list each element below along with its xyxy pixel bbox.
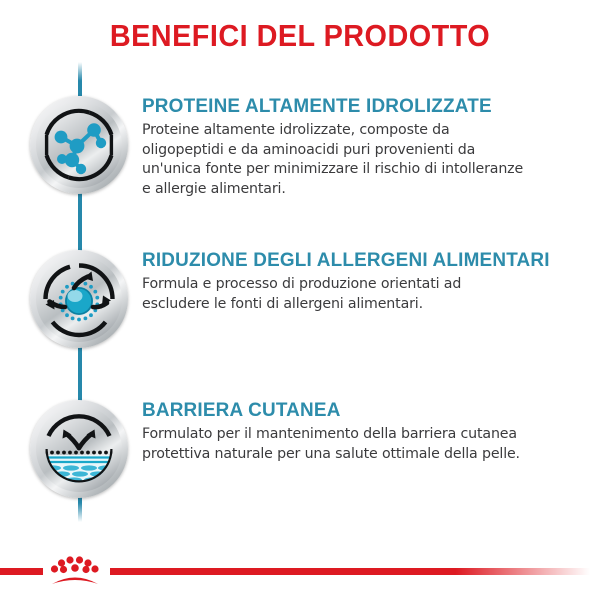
benefit-heading-3: BARRIERA CUTANEA [142, 400, 571, 420]
benefit-body-line: e allergie alimentari. [142, 180, 584, 200]
benefit-body-line: Proteine altamente idrolizzate, composte… [142, 121, 584, 141]
benefit-body-2: Formula e processo di produzione orienta… [142, 275, 584, 314]
benefit-body-line: protettiva naturale per una salute ottim… [142, 445, 584, 465]
footer-rule-left [0, 568, 43, 575]
benefit-body-line: oligopeptidi e da aminoacidi puri proven… [142, 141, 584, 161]
timeline-segment-top [78, 62, 82, 96]
allergen-reduction-icon-glyph [36, 256, 122, 342]
page-title: BENEFICI DEL PRODOTTO [21, 18, 579, 54]
allergen-reduction-icon [30, 250, 128, 348]
benefit-body-line: Formulato per il mantenimento della barr… [142, 425, 584, 445]
benefit-text-2: RIDUZIONE DEGLI ALLERGENI ALIMENTARI For… [142, 250, 584, 314]
benefit-body-1: Proteine altamente idrolizzate, composte… [142, 121, 584, 199]
product-benefits-panel: BENEFICI DEL PRODOTTO [0, 0, 600, 600]
benefit-text-1: PROTEINE ALTAMENTE IDROLIZZATE Proteine … [142, 96, 584, 199]
royal-canin-crown-logo [46, 554, 104, 590]
footer-rule-right [110, 568, 590, 575]
skin-barrier-icon-glyph [36, 406, 122, 492]
benefit-heading-1: PROTEINE ALTAMENTE IDROLIZZATE [142, 96, 571, 116]
benefit-body-line: escludere le fonti di allergeni alimenta… [142, 295, 584, 315]
benefit-text-3: BARRIERA CUTANEA Formulato per il manten… [142, 400, 584, 464]
benefit-body-3: Formulato per il mantenimento della barr… [142, 425, 584, 464]
footer [0, 552, 600, 600]
skin-barrier-icon [30, 400, 128, 498]
molecule-icon-glyph [36, 102, 122, 188]
benefit-body-line: un'unica fonte per minimizzare il rischi… [142, 160, 584, 180]
molecule-icon [30, 96, 128, 194]
benefit-heading-2: RIDUZIONE DEGLI ALLERGENI ALIMENTARI [142, 250, 571, 270]
benefit-body-line: Formula e processo di produzione orienta… [142, 275, 584, 295]
